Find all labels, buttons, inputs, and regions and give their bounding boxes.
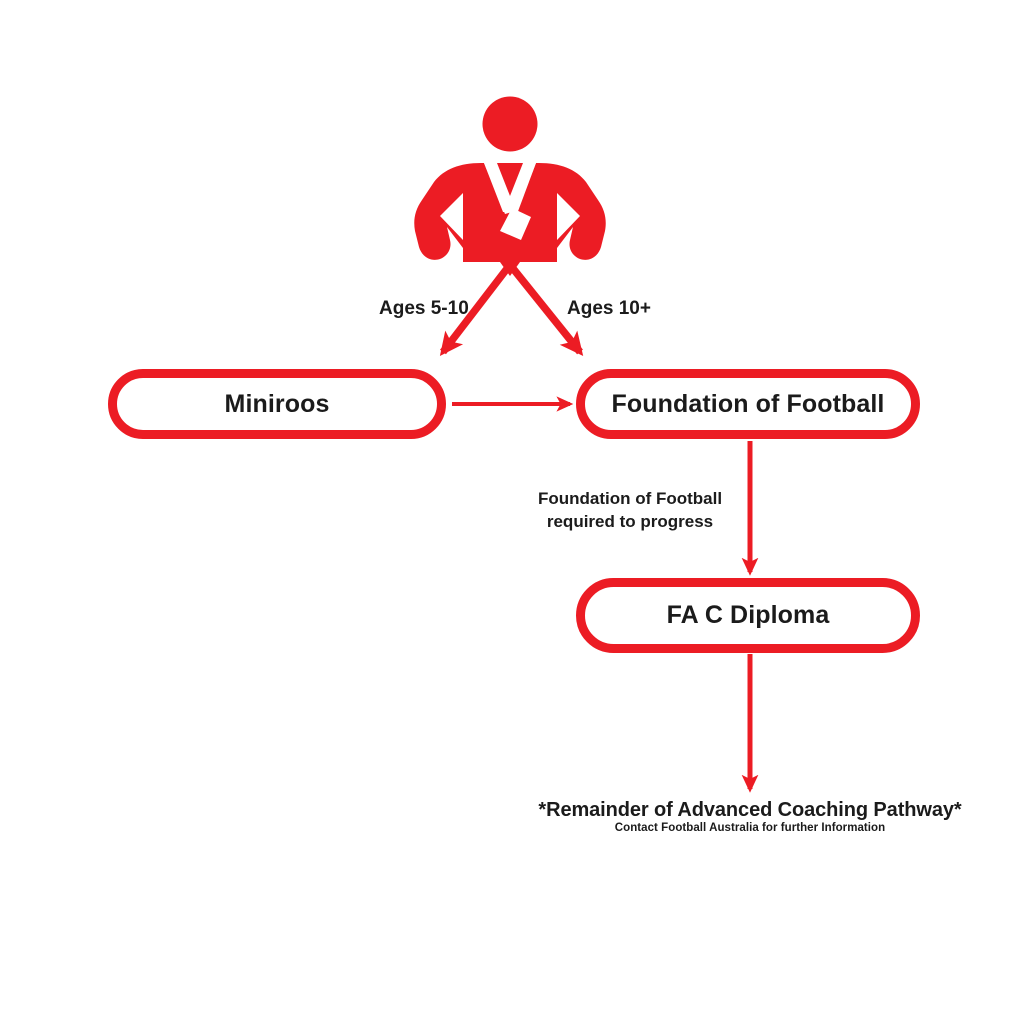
- node-foundation-of-football[interactable]: Foundation of Football: [576, 369, 920, 439]
- node-miniroos[interactable]: Miniroos: [108, 369, 446, 439]
- edge-label-foundation-required-line1: Foundation of Football: [524, 487, 736, 510]
- coach-head-icon: [483, 97, 538, 152]
- coach-with-whistle-icon: [0, 0, 1024, 1024]
- edge-label-foundation-required: Foundation of Football required to progr…: [524, 487, 736, 533]
- node-miniroos-label: Miniroos: [225, 392, 330, 417]
- edge-label-ages-10-plus: Ages 10+: [567, 298, 651, 320]
- edge-label-ages-5-10: Ages 5-10: [379, 298, 469, 320]
- edge-label-foundation-required-line2: required to progress: [524, 510, 736, 533]
- coaching-pathway-diagram: Miniroos Foundation of Football FA C Dip…: [0, 0, 1024, 1024]
- footer-remainder-headline: *Remainder of Advanced Coaching Pathway*: [512, 799, 988, 822]
- footer-contact-subtext: Contact Football Australia for further I…: [512, 822, 988, 834]
- node-foundation-of-football-label: Foundation of Football: [612, 392, 885, 417]
- node-fa-c-diploma-label: FA C Diploma: [667, 603, 830, 628]
- node-fa-c-diploma[interactable]: FA C Diploma: [576, 578, 920, 653]
- coach-base-notch-icon: [500, 262, 520, 276]
